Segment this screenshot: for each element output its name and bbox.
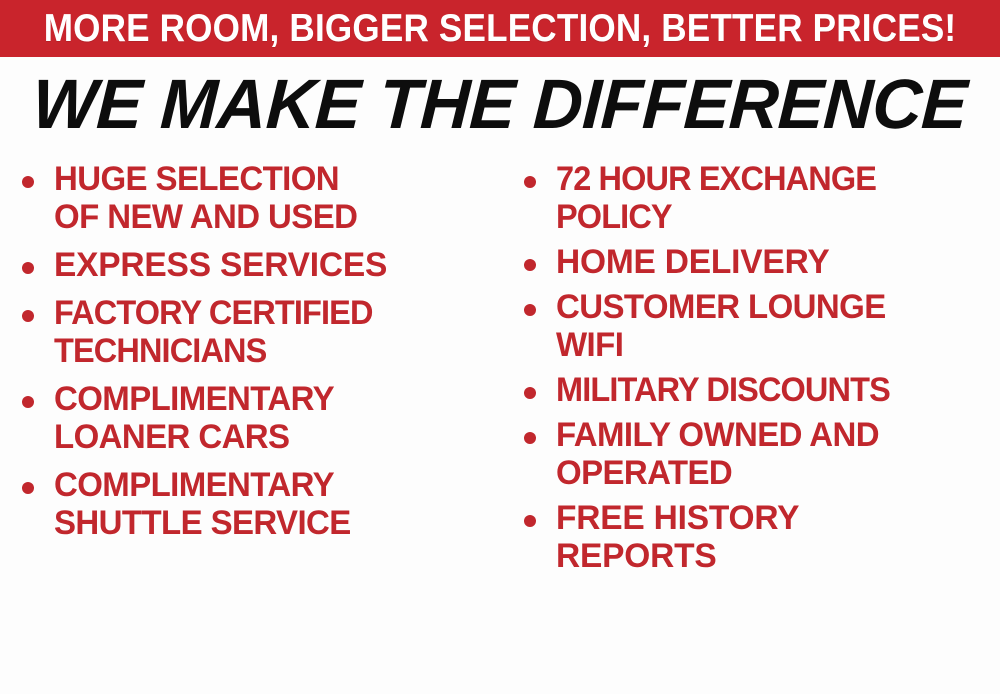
- bullet-dot-icon: [524, 259, 536, 271]
- list-item: MILITARY DISCOUNTS: [516, 371, 1000, 409]
- poster-canvas: MORE ROOM, BIGGER SELECTION, BETTER PRIC…: [0, 0, 1000, 694]
- list-item-label: FAMILY OWNED AND OPERATED: [556, 416, 987, 492]
- list-item: COMPLIMENTARY SHUTTLE SERVICE: [14, 466, 506, 542]
- benefits-columns: HUGE SELECTION OF NEW AND USED EXPRESS S…: [0, 160, 1000, 694]
- headline: WE MAKE THE DIFFERENCE: [0, 69, 1000, 139]
- bullet-dot-icon: [524, 176, 536, 188]
- list-item-label: FACTORY CERTIFIED TECHNICIANS: [54, 294, 486, 370]
- bullet-dot-icon: [524, 387, 536, 399]
- promo-banner: MORE ROOM, BIGGER SELECTION, BETTER PRIC…: [0, 0, 1000, 57]
- list-item: FREE HISTORY REPORTS: [516, 499, 1000, 575]
- promo-banner-text: MORE ROOM, BIGGER SELECTION, BETTER PRIC…: [44, 9, 957, 48]
- list-item: COMPLIMENTARY LOANER CARS: [14, 380, 506, 456]
- bullet-dot-icon: [22, 396, 34, 408]
- bullet-dot-icon: [22, 262, 34, 274]
- list-item-label: HOME DELIVERY: [556, 243, 993, 281]
- bullet-dot-icon: [524, 515, 536, 527]
- list-item-label: MILITARY DISCOUNTS: [556, 371, 980, 409]
- list-item-label: CUSTOMER LOUNGE WIFI: [556, 288, 987, 364]
- list-item: HOME DELIVERY: [516, 243, 1000, 281]
- list-item-label: COMPLIMENTARY LOANER CARS: [54, 380, 492, 456]
- list-item: 72 HOUR EXCHANGE POLICY: [516, 160, 1000, 236]
- benefits-column-left: HUGE SELECTION OF NEW AND USED EXPRESS S…: [14, 160, 506, 694]
- bullet-dot-icon: [524, 304, 536, 316]
- list-item-label: COMPLIMENTARY SHUTTLE SERVICE: [54, 466, 492, 542]
- list-item: HUGE SELECTION OF NEW AND USED: [14, 160, 506, 236]
- bullet-dot-icon: [22, 176, 34, 188]
- list-item: FACTORY CERTIFIED TECHNICIANS: [14, 294, 506, 370]
- bullet-dot-icon: [22, 310, 34, 322]
- list-item-label: EXPRESS SERVICES: [54, 246, 499, 284]
- bullet-dot-icon: [524, 432, 536, 444]
- list-item-label: 72 HOUR EXCHANGE POLICY: [556, 160, 980, 236]
- list-item: EXPRESS SERVICES: [14, 246, 506, 284]
- list-item-label: FREE HISTORY REPORTS: [556, 499, 993, 575]
- list-item-label: HUGE SELECTION OF NEW AND USED: [54, 160, 492, 236]
- list-item: CUSTOMER LOUNGE WIFI: [516, 288, 1000, 364]
- bullet-dot-icon: [22, 482, 34, 494]
- list-item: FAMILY OWNED AND OPERATED: [516, 416, 1000, 492]
- headline-text: WE MAKE THE DIFFERENCE: [31, 69, 969, 139]
- benefits-column-right: 72 HOUR EXCHANGE POLICY HOME DELIVERY CU…: [516, 160, 1000, 694]
